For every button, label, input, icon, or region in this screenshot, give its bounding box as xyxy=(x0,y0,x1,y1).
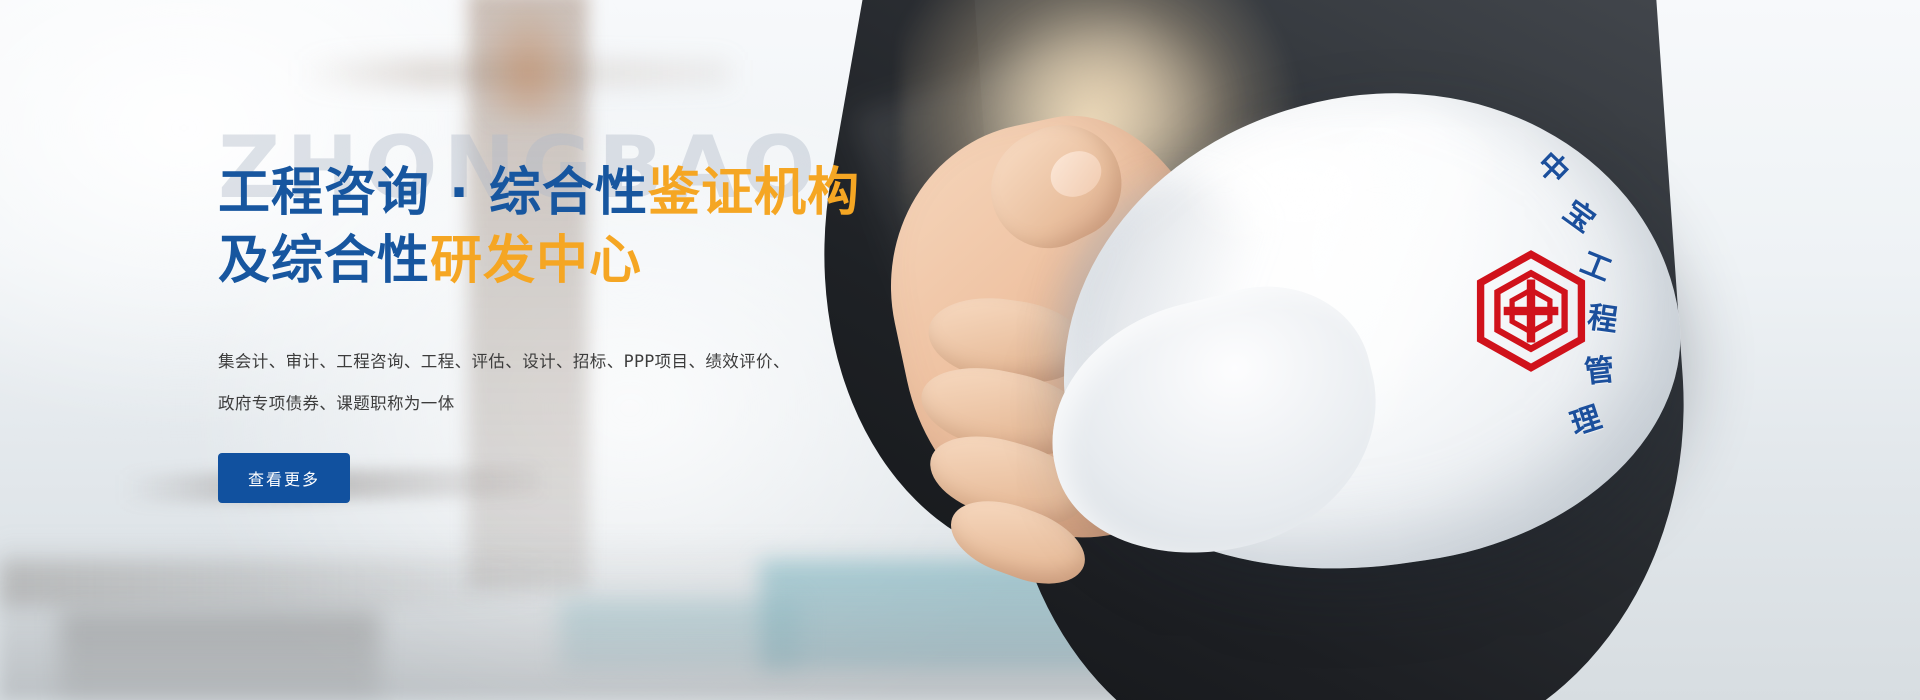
description-line-1: 集会计、审计、工程咨询、工程、评估、设计、招标、PPP项目、绩效评价、 xyxy=(218,341,818,383)
headline-line2-blue: 及综合性 xyxy=(218,231,430,291)
view-more-button[interactable]: 查看更多 xyxy=(218,453,350,503)
hero-description: 集会计、审计、工程咨询、工程、评估、设计、招标、PPP项目、绩效评价、 政府专项… xyxy=(218,341,818,425)
zhongbao-hexagon-logo-icon xyxy=(1468,248,1594,374)
headline-line1-blue: 工程咨询 · 综合性 xyxy=(218,163,648,223)
headline-line1-orange: 鉴证机构 xyxy=(648,163,860,223)
page-title: 工程咨询 · 综合性鉴证机构 及综合性研发中心 xyxy=(218,160,938,295)
hero-banner: 中 宝 工 程 管 理 ZHONGBAO 工程咨询 · 综合性鉴证机构 及综合性… xyxy=(0,0,1920,700)
crane-head-silhouette xyxy=(476,0,580,120)
description-line-2: 政府专项债券、课题职称为一体 xyxy=(218,383,818,425)
hard-hat-char-2: 宝 xyxy=(1556,187,1606,240)
hard-hat-glare xyxy=(1180,120,1420,260)
headline-line2-orange: 研发中心 xyxy=(430,231,642,291)
hero-content: 工程咨询 · 综合性鉴证机构 及综合性研发中心 集会计、审计、工程咨询、工程、评… xyxy=(218,160,938,503)
hard-hat-char-6: 理 xyxy=(1564,392,1606,443)
